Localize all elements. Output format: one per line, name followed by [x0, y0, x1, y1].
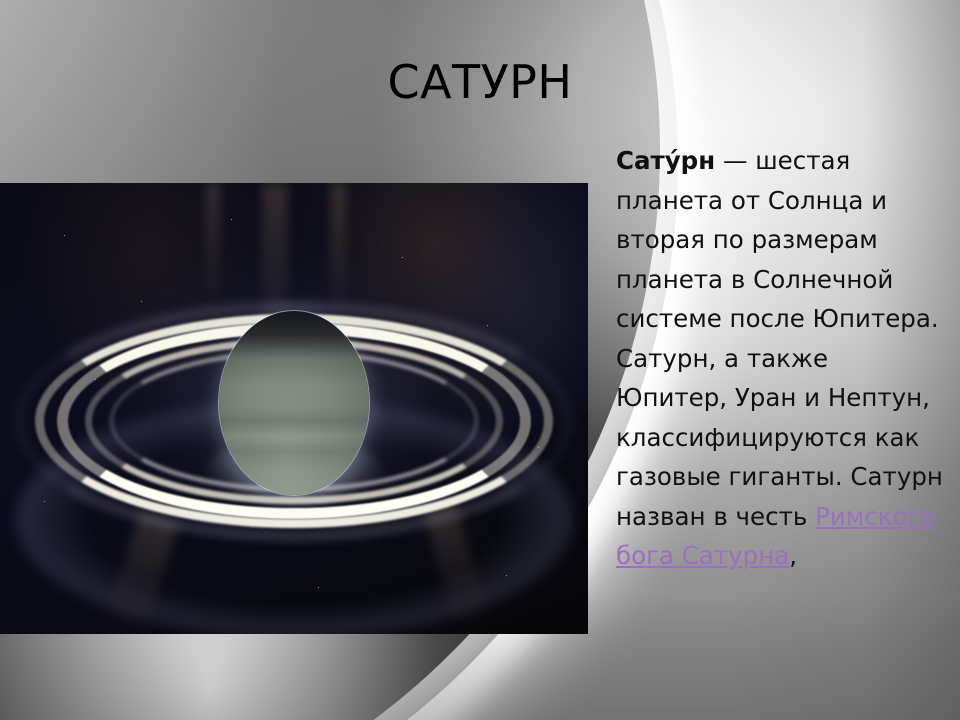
slide-body-text: Сату́рн — шестая планета от Солнца и вто… — [616, 141, 946, 576]
body-lead-term: Сату́рн — [616, 146, 715, 175]
star-speck — [141, 301, 142, 302]
slide-title: САТУРН — [0, 58, 960, 106]
saturn-image — [0, 183, 588, 634]
body-paragraph: шестая планета от Солнца и вторая по раз… — [616, 146, 943, 531]
star-speck — [402, 257, 403, 258]
star-speck — [231, 219, 232, 220]
body-dash: — — [715, 146, 755, 175]
presentation-slide: САТУРН Сату́рн — шестая планета от Солнц… — [0, 0, 960, 720]
body-tail: , — [789, 541, 797, 570]
star-speck — [64, 235, 65, 236]
star-speck — [487, 325, 488, 326]
sun-glare-spike — [206, 183, 220, 323]
saturn-planet-globe — [219, 311, 369, 495]
